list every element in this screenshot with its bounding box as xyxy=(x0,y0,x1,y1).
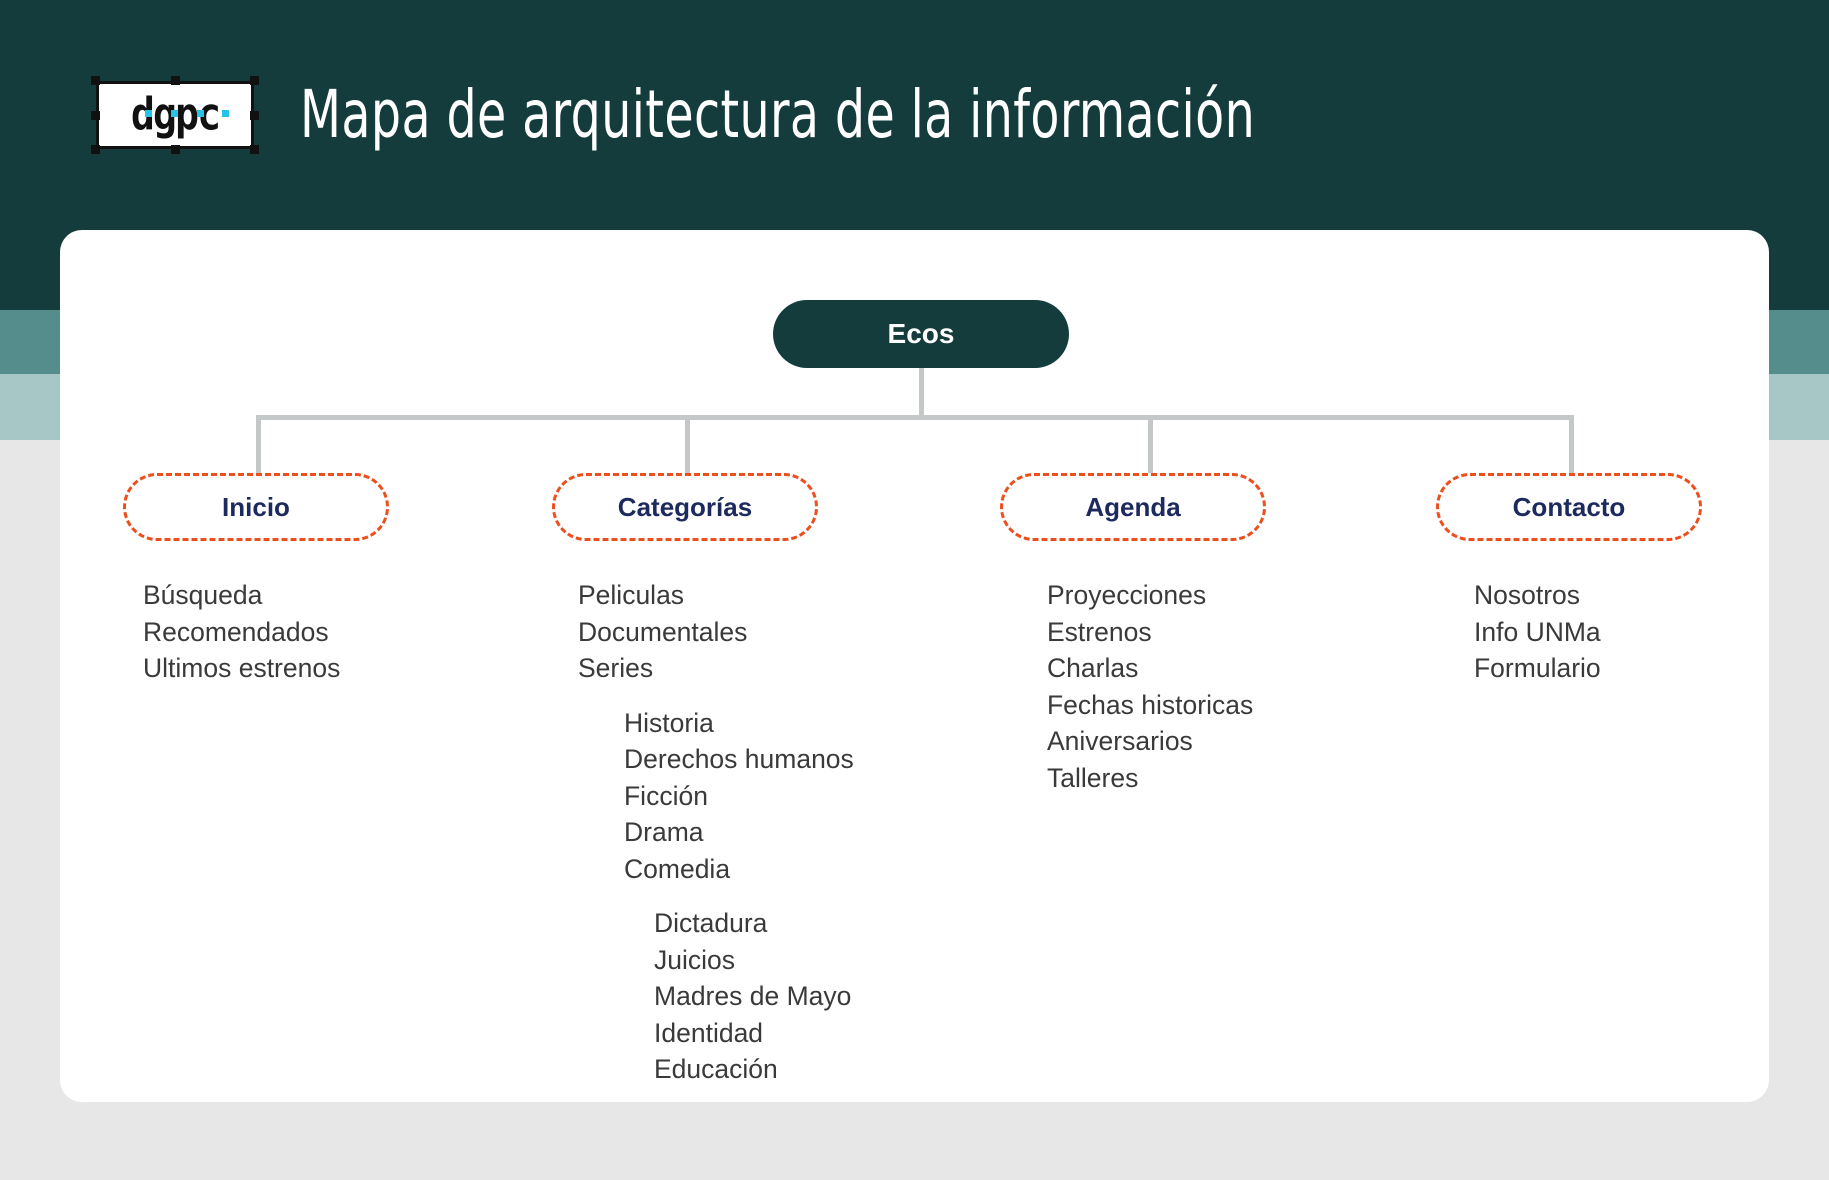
logo-box: dgpc xyxy=(96,81,254,149)
connector-horizontal-bar xyxy=(256,415,1572,420)
sublist-item[interactable]: Proyecciones xyxy=(1047,577,1253,614)
selection-handle-top-center[interactable] xyxy=(171,76,180,85)
selection-handle-top-left[interactable] xyxy=(91,76,100,85)
sublist-item[interactable]: Identidad xyxy=(578,1015,854,1052)
connector-vertical-contacto xyxy=(1569,415,1574,473)
selection-handle-middle-left[interactable] xyxy=(91,111,100,120)
sublist-item[interactable]: Charlas xyxy=(1047,650,1253,687)
sublist-item[interactable]: Info UNMa xyxy=(1474,614,1601,651)
selection-handle-top-right[interactable] xyxy=(250,76,259,85)
node-root-ecos[interactable]: Ecos xyxy=(773,300,1069,368)
sublist-item[interactable]: Juicios xyxy=(578,942,854,979)
sublist-item[interactable]: Ultimos estrenos xyxy=(143,650,340,687)
sublist-item[interactable]: Aniversarios xyxy=(1047,723,1253,760)
selection-handle-middle-right[interactable] xyxy=(250,111,259,120)
sublist-spacer xyxy=(578,687,854,705)
sublist-item[interactable]: Documentales xyxy=(578,614,854,651)
sublist-item[interactable]: Series xyxy=(578,650,854,687)
sublist-agenda: ProyeccionesEstrenosCharlasFechas histor… xyxy=(1047,577,1253,796)
sublist-item[interactable]: Formulario xyxy=(1474,650,1601,687)
sublist-inicio: BúsquedaRecomendadosUltimos estrenos xyxy=(143,577,340,687)
connector-root-vertical xyxy=(919,368,924,418)
sublist-item[interactable]: Comedia xyxy=(578,851,854,888)
selection-handle-bottom-left[interactable] xyxy=(91,145,100,154)
sublist-item[interactable]: Ficción xyxy=(578,778,854,815)
sublist-item[interactable]: Derechos humanos xyxy=(578,741,854,778)
page-header: dgpc Mapa de arquitectura de la informac… xyxy=(0,0,1829,230)
selection-handle-bottom-right[interactable] xyxy=(250,145,259,154)
node-categorias[interactable]: Categorías xyxy=(552,473,818,541)
sublist-item[interactable]: Fechas historicas xyxy=(1047,687,1253,724)
sublist-spacer xyxy=(578,887,854,905)
connector-vertical-categorias xyxy=(685,415,690,473)
sublist-item[interactable]: Nosotros xyxy=(1474,577,1601,614)
sublist-item[interactable]: Recomendados xyxy=(143,614,340,651)
connector-vertical-agenda xyxy=(1148,415,1153,473)
sublist-item[interactable]: Estrenos xyxy=(1047,614,1253,651)
sublist-categorias: PeliculasDocumentalesSeriesHistoriaDerec… xyxy=(578,577,854,1088)
sublist-item[interactable]: Drama xyxy=(578,814,854,851)
sublist-item[interactable]: Educación xyxy=(578,1051,854,1088)
sublist-item[interactable]: Madres de Mayo xyxy=(578,978,854,1015)
connector-vertical-inicio xyxy=(256,415,261,473)
logo-accent-dot-2 xyxy=(171,110,178,117)
node-contacto[interactable]: Contacto xyxy=(1436,473,1702,541)
sublist-contacto: NosotrosInfo UNMaFormulario xyxy=(1474,577,1601,687)
page-title: Mapa de arquitectura de la información xyxy=(300,82,1255,148)
sublist-item[interactable]: Talleres xyxy=(1047,760,1253,797)
sublist-item[interactable]: Búsqueda xyxy=(143,577,340,614)
dgpc-logo: dgpc xyxy=(96,81,254,149)
sublist-item[interactable]: Peliculas xyxy=(578,577,854,614)
logo-accent-dot-4 xyxy=(222,110,229,117)
selection-handle-bottom-center[interactable] xyxy=(171,145,180,154)
sublist-item[interactable]: Historia xyxy=(578,705,854,742)
sublist-item[interactable]: Dictadura xyxy=(578,905,854,942)
logo-accent-dot-3 xyxy=(197,110,204,117)
node-agenda[interactable]: Agenda xyxy=(1000,473,1266,541)
node-inicio[interactable]: Inicio xyxy=(123,473,389,541)
logo-accent-dot-1 xyxy=(145,110,152,117)
